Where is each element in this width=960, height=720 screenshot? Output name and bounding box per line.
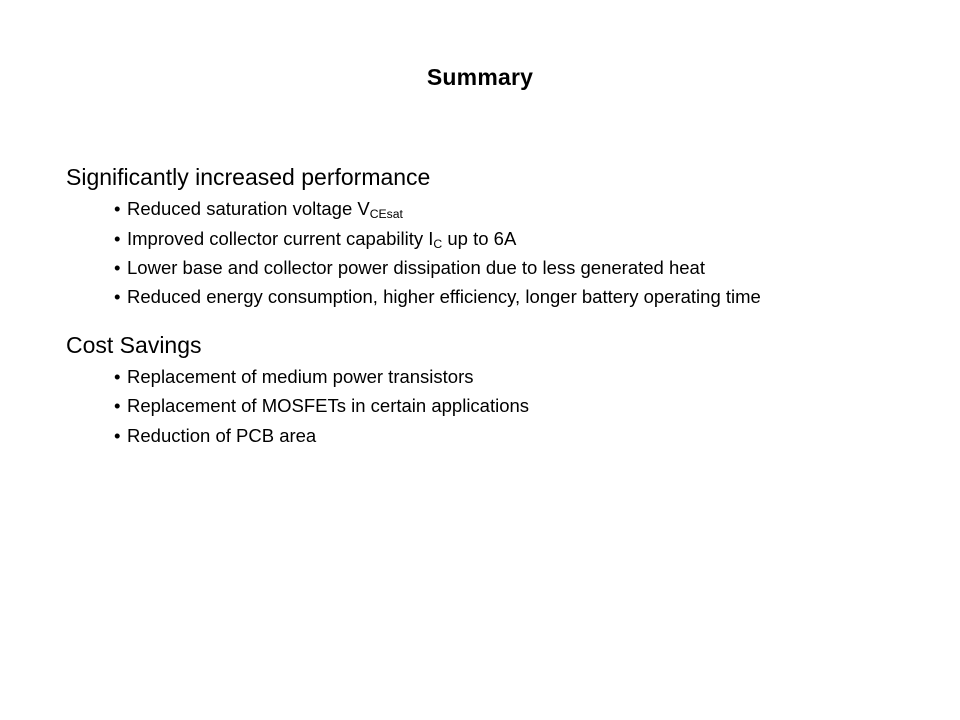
subscript-text: CEsat <box>370 207 403 221</box>
list-item: •Lower base and collector power dissipat… <box>66 255 926 281</box>
subscript-text: C <box>433 237 442 251</box>
list-item: •Reduction of PCB area <box>66 423 926 449</box>
list-item: •Replacement of MOSFETs in certain appli… <box>66 393 926 419</box>
list-item-label: Reduced saturation voltage VCEsat <box>127 198 403 219</box>
list-item-label: Replacement of MOSFETs in certain applic… <box>127 395 529 416</box>
page-title: Summary <box>0 65 960 90</box>
list-item-label: Reduced energy consumption, higher effic… <box>127 286 761 307</box>
bullet-dot-icon: • <box>114 284 120 310</box>
text-run: Improved collector current capability I <box>127 228 433 249</box>
bullet-dot-icon: • <box>114 196 120 222</box>
list-item-label: Lower base and collector power dissipati… <box>127 257 705 278</box>
list-item: •Replacement of medium power transistors <box>66 364 926 390</box>
text-run: up to 6A <box>442 228 516 249</box>
list-item-label: Replacement of medium power transistors <box>127 366 474 387</box>
bullet-dot-icon: • <box>114 226 120 252</box>
text-run: Lower base and collector power dissipati… <box>127 257 705 278</box>
bullet-list: •Reduced saturation voltage VCEsat•Impro… <box>66 196 926 311</box>
bullet-dot-icon: • <box>114 393 120 419</box>
slide-body: Significantly increased performance•Redu… <box>66 163 926 449</box>
content-section: Cost Savings•Replacement of medium power… <box>66 331 926 449</box>
section-heading: Cost Savings <box>66 331 926 359</box>
list-item: •Reduced saturation voltage VCEsat <box>66 196 926 222</box>
list-item: •Improved collector current capability I… <box>66 226 926 252</box>
slide: Summary Significantly increased performa… <box>0 0 960 720</box>
text-run: Reduced saturation voltage V <box>127 198 370 219</box>
content-section: Significantly increased performance•Redu… <box>66 163 926 311</box>
text-run: Replacement of medium power transistors <box>127 366 474 387</box>
bullet-dot-icon: • <box>114 255 120 281</box>
text-run: Reduced energy consumption, higher effic… <box>127 286 761 307</box>
list-item-label: Reduction of PCB area <box>127 425 316 446</box>
list-item: •Reduced energy consumption, higher effi… <box>66 284 926 310</box>
text-run: Replacement of MOSFETs in certain applic… <box>127 395 529 416</box>
bullet-dot-icon: • <box>114 423 120 449</box>
section-heading: Significantly increased performance <box>66 163 926 191</box>
text-run: Reduction of PCB area <box>127 425 316 446</box>
list-item-label: Improved collector current capability IC… <box>127 228 516 249</box>
bullet-list: •Replacement of medium power transistors… <box>66 364 926 449</box>
bullet-dot-icon: • <box>114 364 120 390</box>
